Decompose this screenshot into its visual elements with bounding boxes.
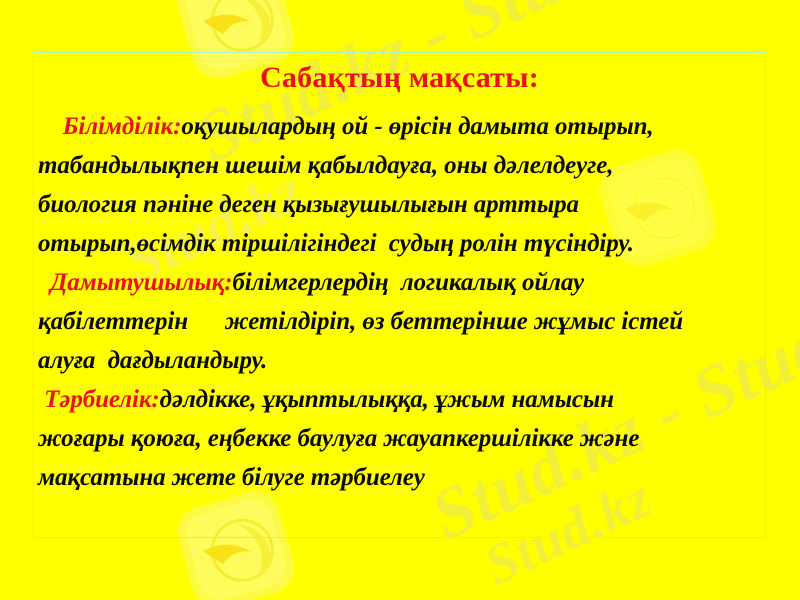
objective-text: мақсатына жете білуге тәрбиелеу xyxy=(38,464,425,491)
objective-text: отырып,өсімдік тіршілігіндегі судың ролі… xyxy=(38,230,634,257)
objective-text: дәлдікке, ұқыптылыққа, ұжым намысын xyxy=(160,386,614,413)
objective-text: алуға дағдыландыру. xyxy=(38,347,267,374)
text-line: Дамытушылық:білімгерлердің логикалық ойл… xyxy=(38,263,763,302)
page-title: Сабақтың мақсаты: xyxy=(34,61,765,95)
objective-heading: Тәрбиелік: xyxy=(38,386,160,413)
text-line: Білімділік:оқушылардың ой - өрісін дамыт… xyxy=(38,107,763,146)
objective-text: биология пәніне деген қызығушылығын артт… xyxy=(38,191,579,218)
text-line: жоғары қоюға, еңбекке баулуға жауапкерші… xyxy=(38,419,763,458)
text-line: мақсатына жете білуге тәрбиелеу xyxy=(38,458,763,497)
objectives-text-block: Білімділік:оқушылардың ой - өрісін дамыт… xyxy=(38,107,763,497)
text-line: қабілеттерін жетілдіріп, өз беттерінше ж… xyxy=(38,302,763,341)
text-line: отырып,өсімдік тіршілігіндегі судың ролі… xyxy=(38,224,763,263)
slide-canvas: Stud.kz - Stud.kz Stud.kz Stud.kz - Stud… xyxy=(0,0,800,600)
objective-text: жоғары қоюға, еңбекке баулуға жауапкерші… xyxy=(38,425,639,452)
objective-heading: Білімділік: xyxy=(38,113,181,140)
objective-heading: Дамытушылық: xyxy=(38,269,232,296)
content-border-box: Сабақтың мақсаты: Білімділік:оқушылардың… xyxy=(33,52,766,538)
objective-text: қабілеттерін жетілдіріп, өз беттерінше ж… xyxy=(38,308,683,335)
objective-text: оқушылардың ой - өрісін дамыта отырып, xyxy=(181,113,653,140)
text-line: биология пәніне деген қызығушылығын артт… xyxy=(38,185,763,224)
text-line: Тәрбиелік:дәлдікке, ұқыптылыққа, ұжым на… xyxy=(38,380,763,419)
text-line: алуға дағдыландыру. xyxy=(38,341,763,380)
objective-text: табандылықпен шешім қабылдауға, оны дәле… xyxy=(38,152,613,179)
text-line: табандылықпен шешім қабылдауға, оны дәле… xyxy=(38,146,763,185)
objective-text: білімгерлердің логикалық ойлау xyxy=(232,269,584,296)
